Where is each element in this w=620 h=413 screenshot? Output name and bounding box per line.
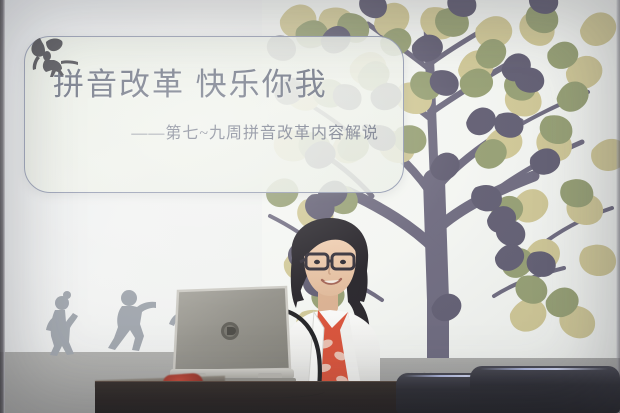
dell-logo [221,322,239,340]
child-silhouette-boy-jumping [108,290,156,351]
fairy-silhouette [28,36,84,78]
chair-highlight [480,368,608,370]
chair-back-right [470,366,620,413]
fairy-icon [28,36,84,83]
screen-left-frame [0,0,5,413]
child-silhouette-girl [46,291,78,356]
screen-right-frame [616,0,620,413]
slide-title: 拼音改革 快乐你我 [53,59,328,104]
nose [329,266,330,274]
screenshot-root: 张桂 [0,0,620,413]
slide-subtitle: ——第七~九周拼音改革内容解说 [131,119,379,143]
